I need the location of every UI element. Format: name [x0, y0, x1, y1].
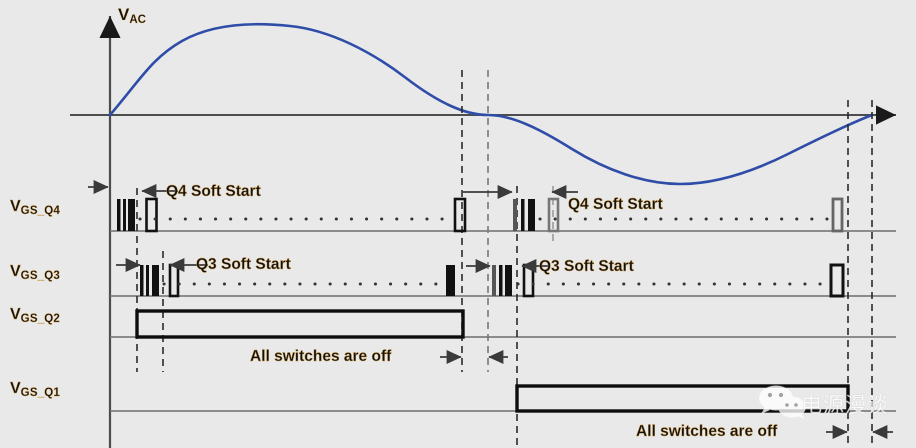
pulse-q3-b1 — [492, 265, 496, 296]
annotation-all-switches-off-2: All switches are off — [636, 423, 777, 441]
annotation-q4-soft-start-2: Q4 Soft Start — [568, 196, 663, 214]
pulse-q3-b4-hollow — [524, 265, 533, 296]
pulse-q3-a3 — [152, 265, 159, 296]
pulse-q4-a3 — [128, 199, 135, 231]
pulse-q3-b3 — [505, 265, 512, 296]
trace-q4-waveform — [117, 199, 842, 231]
pulse-q4-a2 — [123, 199, 126, 231]
trace-label-q2: VGS_Q2 — [10, 306, 60, 324]
block-q1-on — [517, 386, 848, 411]
annotation-q3-soft-start-1: Q3 Soft Start — [196, 256, 291, 274]
trace-label-q1-sub: GS_Q1 — [21, 387, 60, 399]
pulse-q4-b1 — [513, 199, 517, 231]
pulse-q4-a4-hollow — [147, 199, 157, 231]
trace-label-q2-sub: GS_Q2 — [21, 313, 60, 325]
pulse-q4-a1 — [117, 199, 121, 231]
pulse-q3-a4-hollow — [170, 265, 178, 296]
annotation-q4-soft-start-1: Q4 Soft Start — [166, 183, 261, 201]
timing-diagram: VAC VGS_Q4 VGS_Q3 VGS_Q2 VGS_Q1 Q4 Soft … — [0, 0, 916, 448]
trace-label-q3-main: V — [10, 263, 21, 280]
pulse-q3-end2 — [831, 265, 843, 296]
y-axis-label: VAC — [118, 5, 146, 25]
trace-label-q3: VGS_Q3 — [10, 263, 60, 281]
trace-label-q4: VGS_Q4 — [10, 198, 60, 216]
trace-label-q2-main: V — [10, 306, 21, 323]
annotation-q3-soft-start-2: Q3 Soft Start — [539, 258, 634, 276]
pulse-q3-b2 — [499, 265, 503, 296]
pulse-q3-a2 — [146, 265, 149, 296]
pulse-q4-end1 — [455, 199, 465, 231]
y-axis-label-main: V — [118, 5, 129, 24]
pulse-q3-end1 — [446, 265, 455, 296]
pulse-q4-b2 — [521, 199, 525, 231]
pulse-q4-b3 — [528, 199, 535, 231]
y-axis-label-sub: AC — [129, 14, 146, 26]
pulse-q4-end2 — [833, 199, 842, 231]
pulse-q3-a1 — [140, 265, 144, 296]
trace-label-q1-main: V — [10, 380, 21, 397]
trace-label-q1: VGS_Q1 — [10, 380, 60, 398]
trace-label-q3-sub: GS_Q3 — [21, 270, 60, 282]
trace-label-q4-main: V — [10, 198, 21, 215]
block-q2-on — [137, 311, 463, 337]
diagram-canvas — [0, 0, 916, 448]
trace-label-q4-sub: GS_Q4 — [21, 205, 60, 217]
vac-sine-wave — [110, 24, 872, 184]
annotation-all-switches-off-1: All switches are off — [250, 348, 391, 366]
axes-group — [70, 16, 896, 448]
